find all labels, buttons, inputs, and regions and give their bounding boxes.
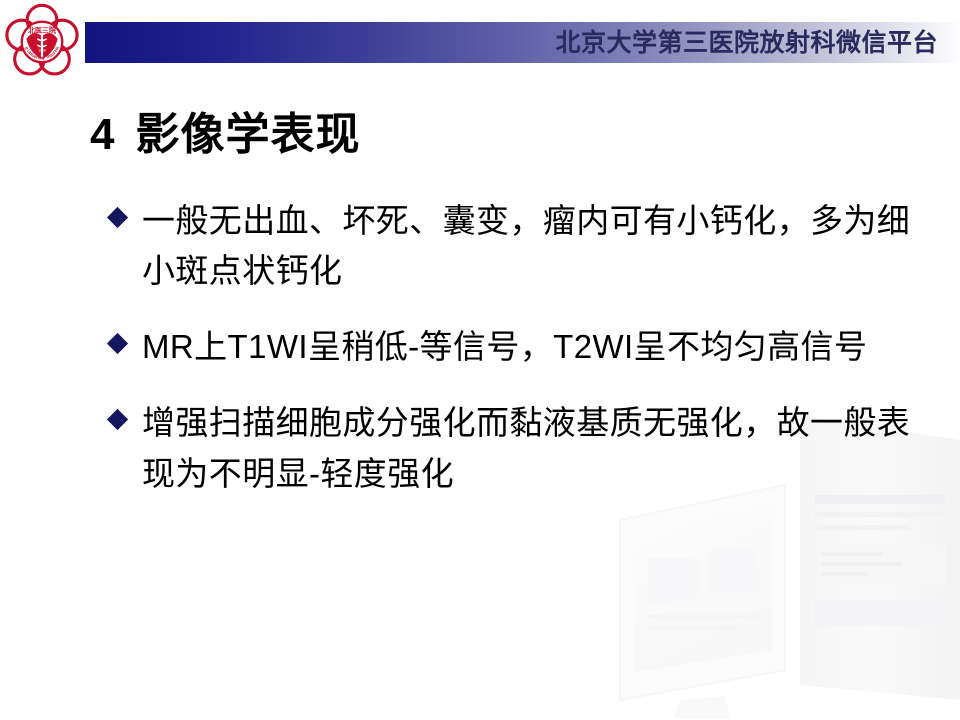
diamond-bullet-icon (107, 333, 128, 354)
list-item-text: MR上T1WI呈稍低-等信号，T2WI呈不均匀高信号 (142, 322, 916, 372)
page-title-text: 影像学表现 (135, 110, 360, 159)
presentation-slide: 北京大学第三医院放射科微信平台 北医三院 Peking University T… (0, 0, 960, 720)
svg-text:1958: 1958 (38, 48, 46, 52)
diamond-bullet-icon (107, 409, 128, 430)
hospital-logo-icon: 北医三院 Peking University Third Hospital 19… (3, 3, 81, 81)
list-item: 一般无出血、坏死、囊变，瘤内可有小钙化，多为细小斑点状钙化 (106, 196, 916, 296)
svg-text:北医三院: 北医三院 (28, 26, 56, 35)
bullet-list: 一般无出血、坏死、囊变，瘤内可有小钙化，多为细小斑点状钙化 MR上T1WI呈稍低… (106, 196, 916, 499)
list-item: 增强扫描细胞成分强化而黏液基质无强化，故一般表现为不明显-轻度强化 (106, 398, 916, 498)
page-title-number: 4 (90, 110, 115, 159)
list-item-text: 增强扫描细胞成分强化而黏液基质无强化，故一般表现为不明显-轻度强化 (142, 398, 916, 498)
page-title: 4影像学表现 (90, 98, 360, 162)
header-title: 北京大学第三医院放射科微信平台 (555, 23, 938, 63)
diamond-bullet-icon (107, 207, 128, 228)
list-item: MR上T1WI呈稍低-等信号，T2WI呈不均匀高信号 (106, 322, 916, 372)
list-item-text: 一般无出血、坏死、囊变，瘤内可有小钙化，多为细小斑点状钙化 (142, 196, 916, 296)
